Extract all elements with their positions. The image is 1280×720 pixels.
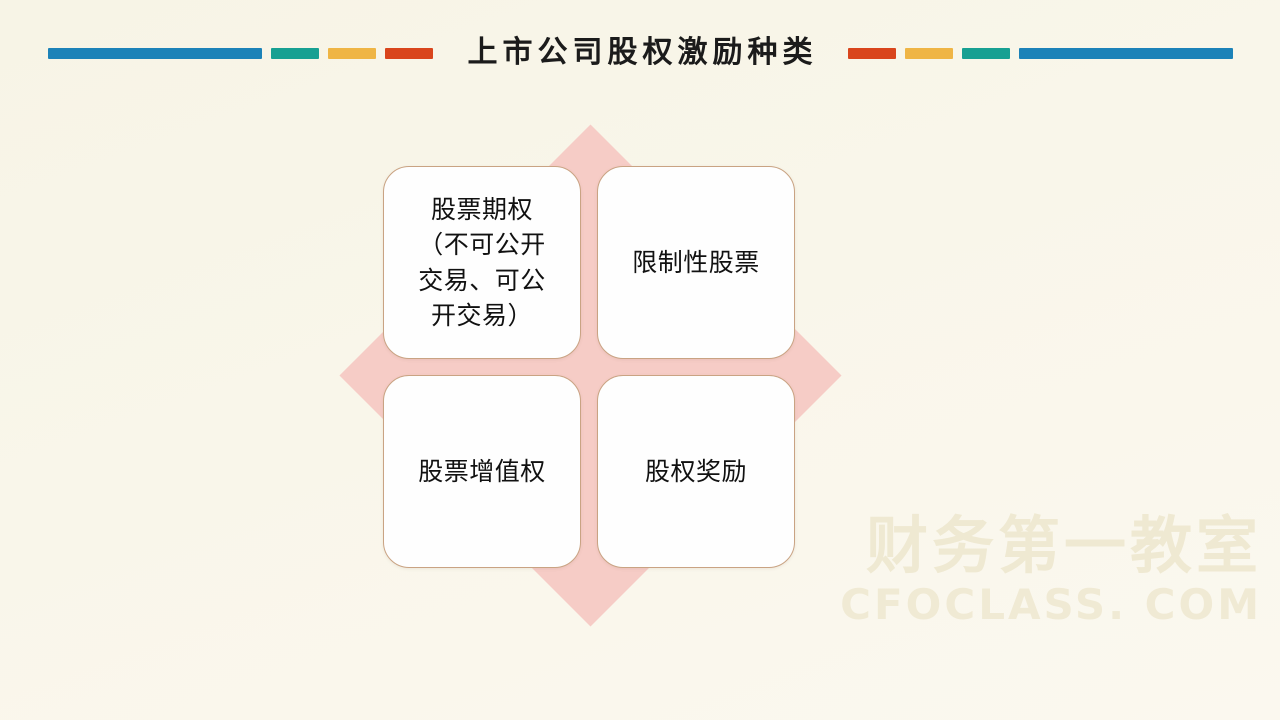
rule-teal: [271, 48, 319, 59]
category-card-stock-appreciation-rights[interactable]: 股票增值权: [383, 375, 581, 568]
category-card-label: 股权奖励: [645, 454, 747, 490]
category-card-grid: 股票期权 （不可公开 交易、可公 开交易）限制性股票股票增值权股权奖励: [383, 166, 795, 584]
header-rule-group-right: [848, 46, 1233, 60]
rule-blue: [1019, 48, 1233, 59]
rule-teal: [962, 48, 1010, 59]
equity-incentive-diagram: 股票期权 （不可公开 交易、可公 开交易）限制性股票股票增值权股权奖励: [338, 118, 843, 633]
rule-orange: [848, 48, 896, 59]
watermark-site-url: CFOCLASS. COM: [840, 582, 1262, 628]
watermark-chinese-text: 财务第一教室: [840, 513, 1262, 578]
category-card-equity-award[interactable]: 股权奖励: [597, 375, 795, 568]
page-title: 上市公司股权激励种类: [463, 38, 818, 68]
category-card-label: 限制性股票: [632, 245, 760, 281]
rule-blue: [48, 48, 262, 59]
category-card-label: 股票增值权: [418, 454, 546, 490]
rule-yellow: [905, 48, 953, 59]
slide-header: 上市公司股权激励种类: [0, 26, 1280, 80]
slide-canvas: 财务第一教室 CFOCLASS. COM 上市公司股权激励种类 股票期权 （不可…: [0, 0, 1280, 720]
rule-orange: [385, 48, 433, 59]
watermark: 财务第一教室 CFOCLASS. COM: [840, 513, 1262, 628]
header-rule-group-left: [48, 46, 433, 60]
category-card-stock-option[interactable]: 股票期权 （不可公开 交易、可公 开交易）: [383, 166, 581, 359]
category-card-label: 股票期权 （不可公开 交易、可公 开交易）: [418, 192, 546, 334]
rule-yellow: [328, 48, 376, 59]
category-card-restricted-stock[interactable]: 限制性股票: [597, 166, 795, 359]
